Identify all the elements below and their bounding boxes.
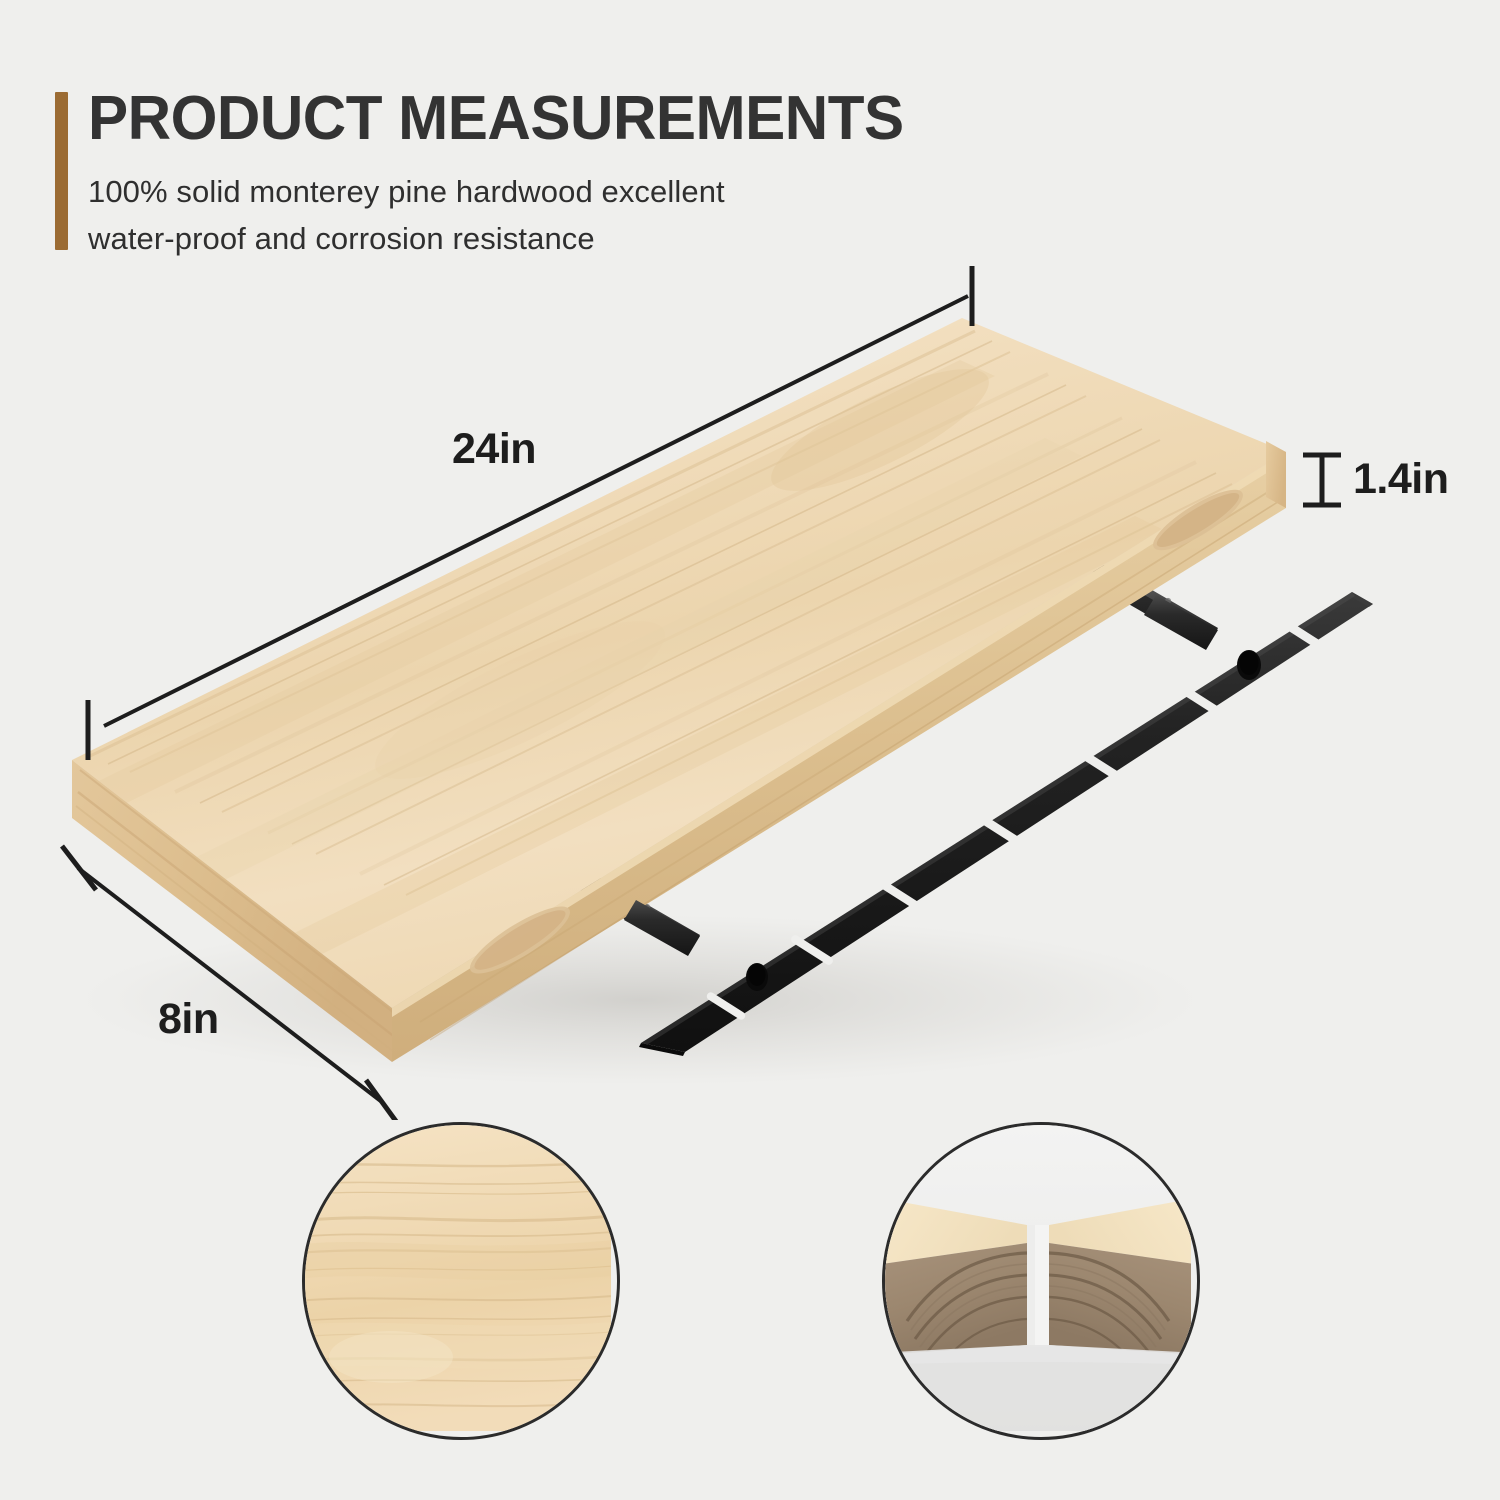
dimension-thickness: [1303, 455, 1341, 505]
product-illustration: [0, 0, 1500, 1120]
dimension-label-depth: 8in: [158, 995, 219, 1044]
detail-circle-edge-joint: [882, 1122, 1200, 1440]
detail-circle-wood-grain: [302, 1122, 620, 1440]
dimension-label-thickness: 1.4in: [1353, 455, 1449, 504]
infographic-canvas: PRODUCT MEASUREMENTS 100% solid monterey…: [0, 0, 1500, 1500]
dimension-label-length: 24in: [452, 425, 536, 474]
shelf-right-end-face: [1266, 441, 1286, 508]
